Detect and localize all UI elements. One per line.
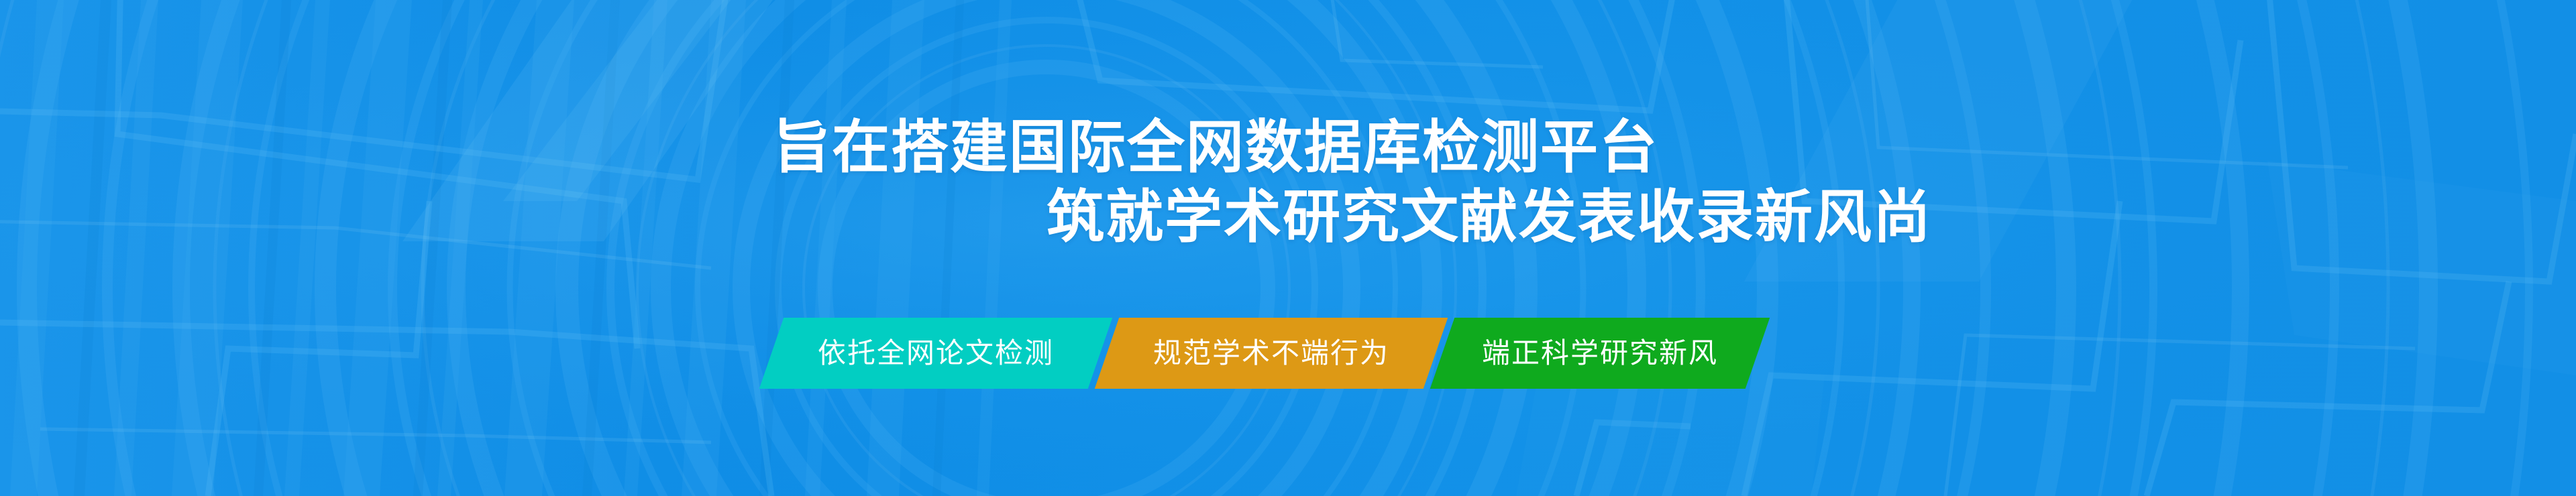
feature-tab-1-label: 依托全网论文检测 [818, 339, 1054, 367]
feature-tab-2-label: 规范学术不端行为 [1153, 339, 1389, 367]
feature-tab-2[interactable]: 规范学术不端行为 [1095, 318, 1448, 389]
headline-line-2: 筑就学术研究文献发表收录新风尚 [1046, 182, 2576, 252]
feature-tab-3-label: 端正科学研究新风 [1482, 339, 1718, 367]
promo-banner: 旨在搭建国际全网数据库检测平台 筑就学术研究文献发表收录新风尚 依托全网论文检测… [0, 0, 2576, 496]
feature-tab-1[interactable]: 依托全网论文检测 [759, 318, 1112, 389]
feature-tab-3[interactable]: 端正科学研究新风 [1430, 318, 1770, 389]
feature-tabs: 依托全网论文检测 规范学术不端行为 端正科学研究新风 [771, 318, 1758, 389]
headline-block: 旨在搭建国际全网数据库检测平台 筑就学术研究文献发表收录新风尚 [0, 113, 2576, 252]
headline-line-1: 旨在搭建国际全网数据库检测平台 [773, 113, 2576, 182]
